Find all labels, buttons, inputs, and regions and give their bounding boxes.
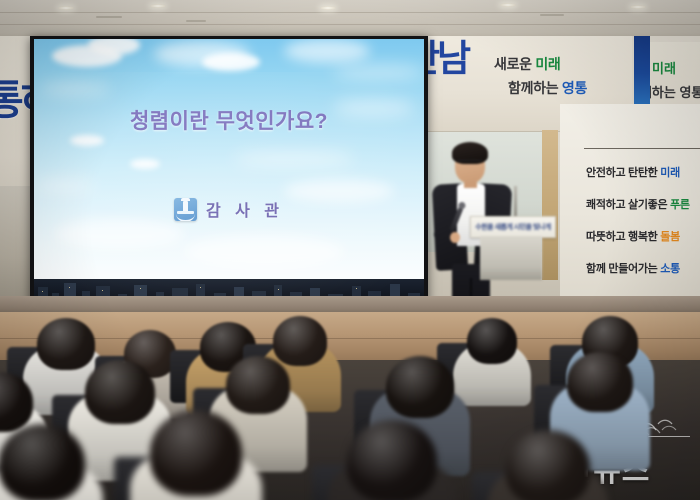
- audience-member-head: [347, 420, 437, 500]
- audience-member-head: [0, 424, 85, 500]
- audience-member-head: [506, 430, 590, 500]
- auditorium-photo: 통하 만남 새로운 미래 함께하는 영통 미래 함께하는 영통 안전하고 탄탄한…: [0, 0, 700, 500]
- audience-front-row: [0, 0, 700, 500]
- audience-member-head: [150, 410, 242, 496]
